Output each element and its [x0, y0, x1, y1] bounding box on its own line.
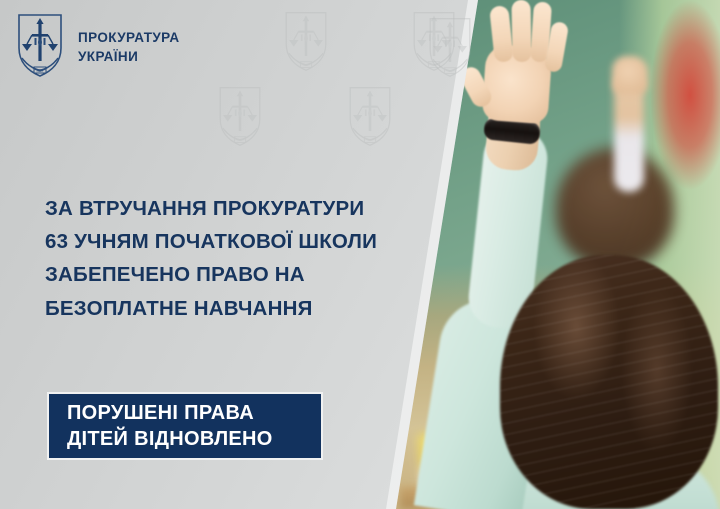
- finger-middle: [511, 0, 531, 62]
- watermark-emblem-icon-4: [424, 14, 476, 85]
- background-child-hand: [612, 56, 648, 94]
- organization-logo: ЗКУ ПРОКУРАТУРА УКРАЇНИ: [14, 10, 180, 85]
- foreground-girl-hair-highlights: [500, 255, 718, 509]
- status-banner-text: ПОРУШЕНІ ПРАВА ДІТЕЙ ВІДНОВЛЕНО: [67, 400, 321, 453]
- prosecutor-office-infographic-poster: ЗКУ ПРОКУРАТУРА УКРАЇНИ ЗА ВТРУЧАННЯ ПРО…: [0, 0, 720, 509]
- watermark-emblem-icon-2: [214, 83, 266, 154]
- svg-text:ЗКУ: ЗКУ: [36, 68, 44, 73]
- organization-name: ПРОКУРАТУРА УКРАЇНИ: [78, 29, 180, 65]
- headline-text: ЗА ВТРУЧАННЯ ПРОКУРАТУРИ 63 УЧНЯМ ПОЧАТК…: [45, 192, 445, 325]
- prosecutor-shield-emblem-icon: ЗКУ: [14, 10, 66, 85]
- status-banner: ПОРУШЕНІ ПРАВА ДІТЕЙ ВІДНОВЛЕНО: [47, 392, 323, 460]
- watermark-emblem-icon-3: [344, 83, 396, 154]
- watermark-emblem-icon-0: [280, 8, 332, 79]
